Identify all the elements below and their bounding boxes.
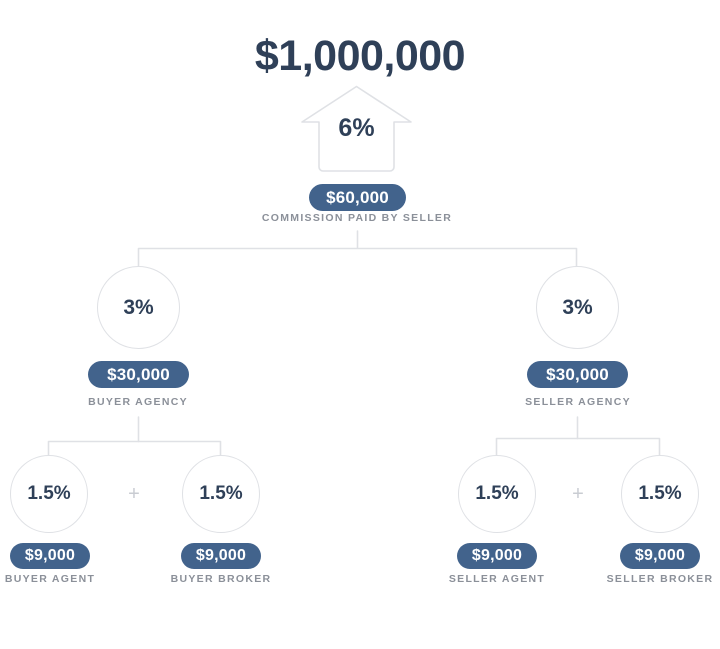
seller-broker-percent-circle: 1.5%: [621, 455, 699, 533]
seller-agent-percent-label: 1.5%: [475, 483, 518, 505]
house-graphic: 6%: [300, 84, 413, 176]
buyer-broker-percent-circle: 1.5%: [182, 455, 260, 533]
seller-bracket: [497, 439, 660, 457]
seller-broker-percent-label: 1.5%: [638, 483, 681, 505]
commission-caption: COMMISSION PAID BY SELLER: [207, 212, 507, 224]
buyer-broker-caption: BUYER BROKER: [161, 573, 281, 585]
agency-bracket: [139, 249, 577, 267]
seller-agency-percent-label: 3%: [562, 296, 592, 320]
page-title: $1,000,000: [0, 32, 720, 81]
seller-agent-amount-badge: $9,000: [457, 543, 537, 569]
commission-split-diagram: $1,000,000 6% $60,000 COMMISSION PAID BY…: [0, 0, 720, 649]
commission-amount-badge: $60,000: [309, 184, 406, 211]
buyer-agency-percent-circle: 3%: [97, 266, 180, 349]
buyer-agency-amount-badge: $30,000: [88, 361, 189, 388]
buyer-broker-percent-label: 1.5%: [199, 483, 242, 505]
seller-agent-percent-circle: 1.5%: [458, 455, 536, 533]
buyer-plus-separator: +: [124, 484, 144, 504]
buyer-agency-percent-label: 3%: [123, 296, 153, 320]
buyer-agent-amount-badge: $9,000: [10, 543, 90, 569]
seller-broker-amount-badge: $9,000: [620, 543, 700, 569]
seller-agency-caption: SELLER AGENCY: [478, 396, 678, 408]
seller-agency-amount-badge: $30,000: [527, 361, 628, 388]
buyer-agent-percent-circle: 1.5%: [10, 455, 88, 533]
buyer-broker-amount-badge: $9,000: [181, 543, 261, 569]
seller-agency-percent-circle: 3%: [536, 266, 619, 349]
buyer-agent-percent-label: 1.5%: [27, 483, 70, 505]
buyer-agency-caption: BUYER AGENCY: [38, 396, 238, 408]
seller-plus-separator: +: [568, 484, 588, 504]
house-percent-label: 6%: [300, 114, 413, 143]
buyer-agent-caption: BUYER AGENT: [0, 573, 100, 585]
buyer-bracket: [49, 442, 221, 457]
seller-agent-caption: SELLER AGENT: [437, 573, 557, 585]
seller-broker-caption: SELLER BROKER: [600, 573, 720, 585]
